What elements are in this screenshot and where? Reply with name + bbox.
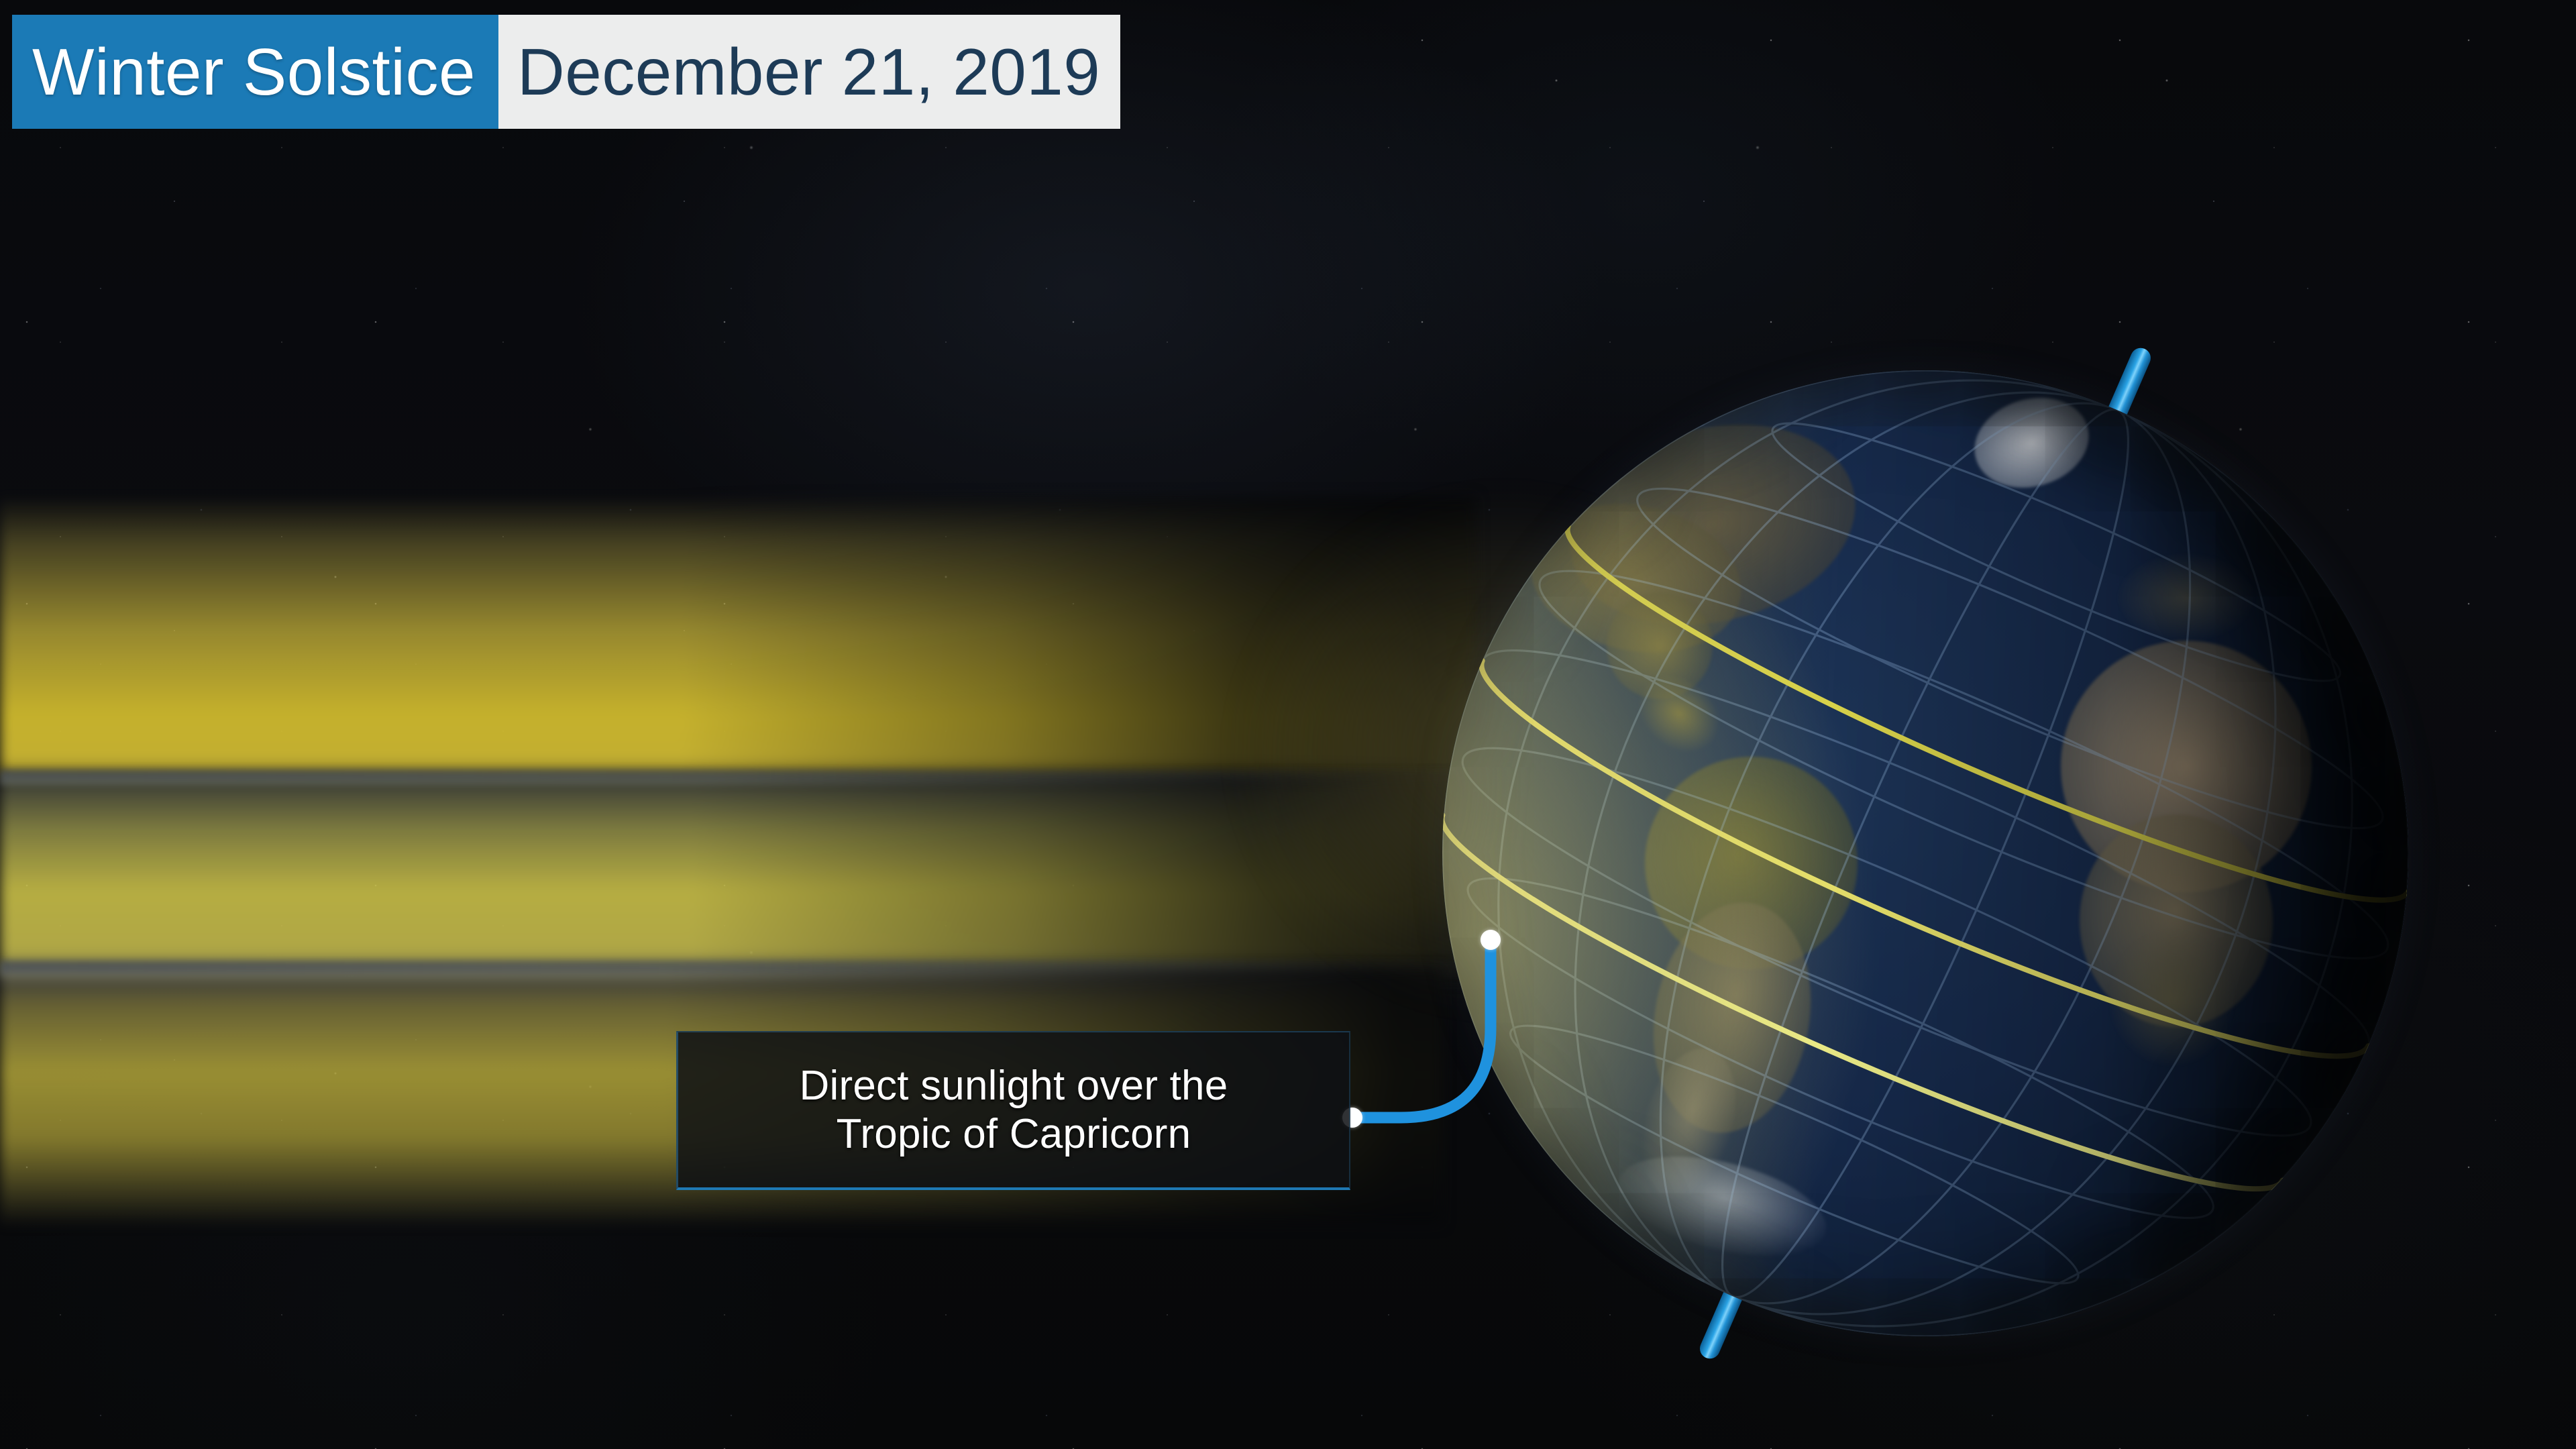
callout-text: Direct sunlight over the Tropic of Capri…: [782, 1062, 1246, 1159]
callout-line-2: Tropic of Capricorn: [800, 1110, 1228, 1159]
event-label-chip: Winter Solstice: [12, 15, 498, 129]
sunlight-beam-upper: [0, 496, 1476, 778]
solstice-graphic-stage: Direct sunlight over the Tropic of Capri…: [0, 0, 2576, 1449]
tropic-of-cancer-line: [1544, 527, 2408, 949]
header-banner: Winter Solstice December 21, 2019: [12, 15, 1120, 129]
tropic-of-capricorn-line: [1442, 815, 2282, 1237]
earth-globe: [1442, 370, 2408, 1336]
latitude-highlight-lines: [1442, 370, 2408, 1336]
callout-box: Direct sunlight over the Tropic of Capri…: [676, 1031, 1350, 1190]
leader-anchor-globe: [1481, 930, 1501, 950]
date-label: December 21, 2019: [498, 15, 1120, 129]
globe-sphere: [1442, 370, 2408, 1336]
sunlight-beam-middle: [0, 778, 1496, 979]
callout-line-1: Direct sunlight over the: [800, 1063, 1228, 1109]
equator-line: [1454, 661, 2368, 1110]
